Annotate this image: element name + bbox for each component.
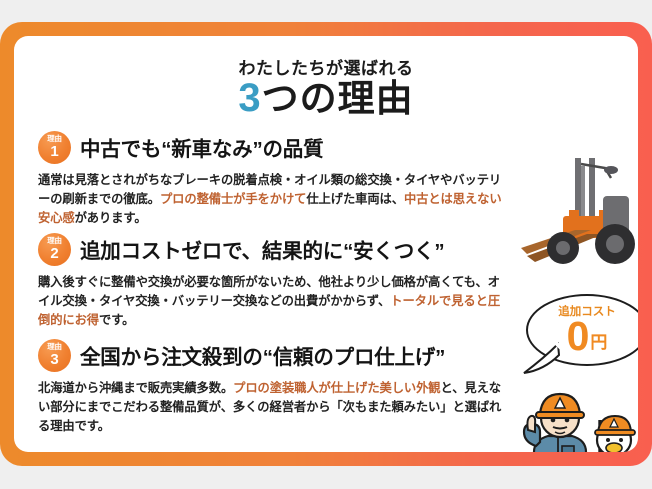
reason-3-header: 理由 3 全国から注文殺到の“信頼のプロ仕上げ” bbox=[38, 338, 508, 372]
reason-1-header: 理由 1 中古でも“新車なみ”の品質 bbox=[38, 130, 508, 164]
reason-3-body: 北海道から沖縄まで販売実績多数。プロの塗装職人が仕上げた美しい外観と、見えない部… bbox=[38, 379, 508, 436]
reason-1-body: 通常は見落とされがちなブレーキの脱着点検・オイル類の総交換・タイヤやバッテリーの… bbox=[38, 171, 508, 228]
badge-number: 2 bbox=[50, 246, 58, 261]
badge-number: 3 bbox=[50, 352, 58, 367]
badge-label: 理由 bbox=[47, 343, 61, 351]
reason-2-header: 理由 2 追加コストゼロで、結果的に“安くつく” bbox=[38, 232, 508, 266]
emphasis-text: プロの整備士が手をかけて bbox=[160, 192, 306, 206]
badge-number: 1 bbox=[50, 144, 58, 159]
reason-badge-2: 理由 2 bbox=[38, 233, 71, 266]
reason-block-3: 理由 3 全国から注文殺到の“信頼のプロ仕上げ” 北海道から沖縄まで販売実績多数… bbox=[38, 338, 508, 436]
reason-block-1: 理由 1 中古でも“新車なみ”の品質 通常は見落とされがちなブレーキの脱着点検・… bbox=[38, 130, 508, 228]
badge-label: 理由 bbox=[47, 237, 61, 245]
reason-3-heading: 全国から注文殺到の“信頼のプロ仕上げ” bbox=[80, 340, 445, 370]
title-number: 3 bbox=[238, 76, 261, 120]
forklift-photo bbox=[519, 144, 638, 272]
worker-and-forklift-mascot bbox=[514, 384, 638, 452]
white-content-card: わたしたちが選ばれる 3つの理由 理由 1 中古でも“新車なみ”の品質 通常は見… bbox=[14, 36, 638, 452]
body-text: です。 bbox=[99, 313, 134, 327]
bubble-zero: 0 bbox=[567, 320, 590, 353]
reason-2-body: 購入後すぐに整備や交換が必要な箇所がないため、他社より少し価格が高くても、オイル… bbox=[38, 273, 508, 330]
title-main-text: つの理由 bbox=[262, 78, 414, 119]
reason-badge-3: 理由 3 bbox=[38, 339, 71, 372]
body-text: があります。 bbox=[75, 211, 147, 225]
badge-label: 理由 bbox=[47, 135, 61, 143]
title-subtitle: わたしたちが選ばれる bbox=[14, 54, 638, 79]
reason-1-heading: 中古でも“新車なみ”の品質 bbox=[80, 132, 323, 162]
emphasis-text: プロの塗装職人が仕上げた美しい外観 bbox=[233, 381, 440, 395]
reason-block-2: 理由 2 追加コストゼロで、結果的に“安くつく” 購入後すぐに整備や交換が必要な… bbox=[38, 232, 508, 330]
body-text: 北海道から沖縄まで販売実績多数。 bbox=[38, 381, 233, 395]
bubble-yen: 円 bbox=[590, 336, 607, 350]
infographic-canvas: わたしたちが選ばれる 3つの理由 理由 1 中古でも“新車なみ”の品質 通常は見… bbox=[0, 0, 652, 489]
reason-badge-1: 理由 1 bbox=[38, 131, 71, 164]
page-title: 3つの理由 bbox=[14, 78, 638, 118]
bubble-price: 0 円 bbox=[567, 320, 608, 353]
reason-2-heading: 追加コストゼロで、結果的に“安くつく” bbox=[80, 234, 444, 264]
body-text: 仕上げた車両は、 bbox=[306, 192, 404, 206]
speech-bubble-tail bbox=[522, 342, 562, 376]
